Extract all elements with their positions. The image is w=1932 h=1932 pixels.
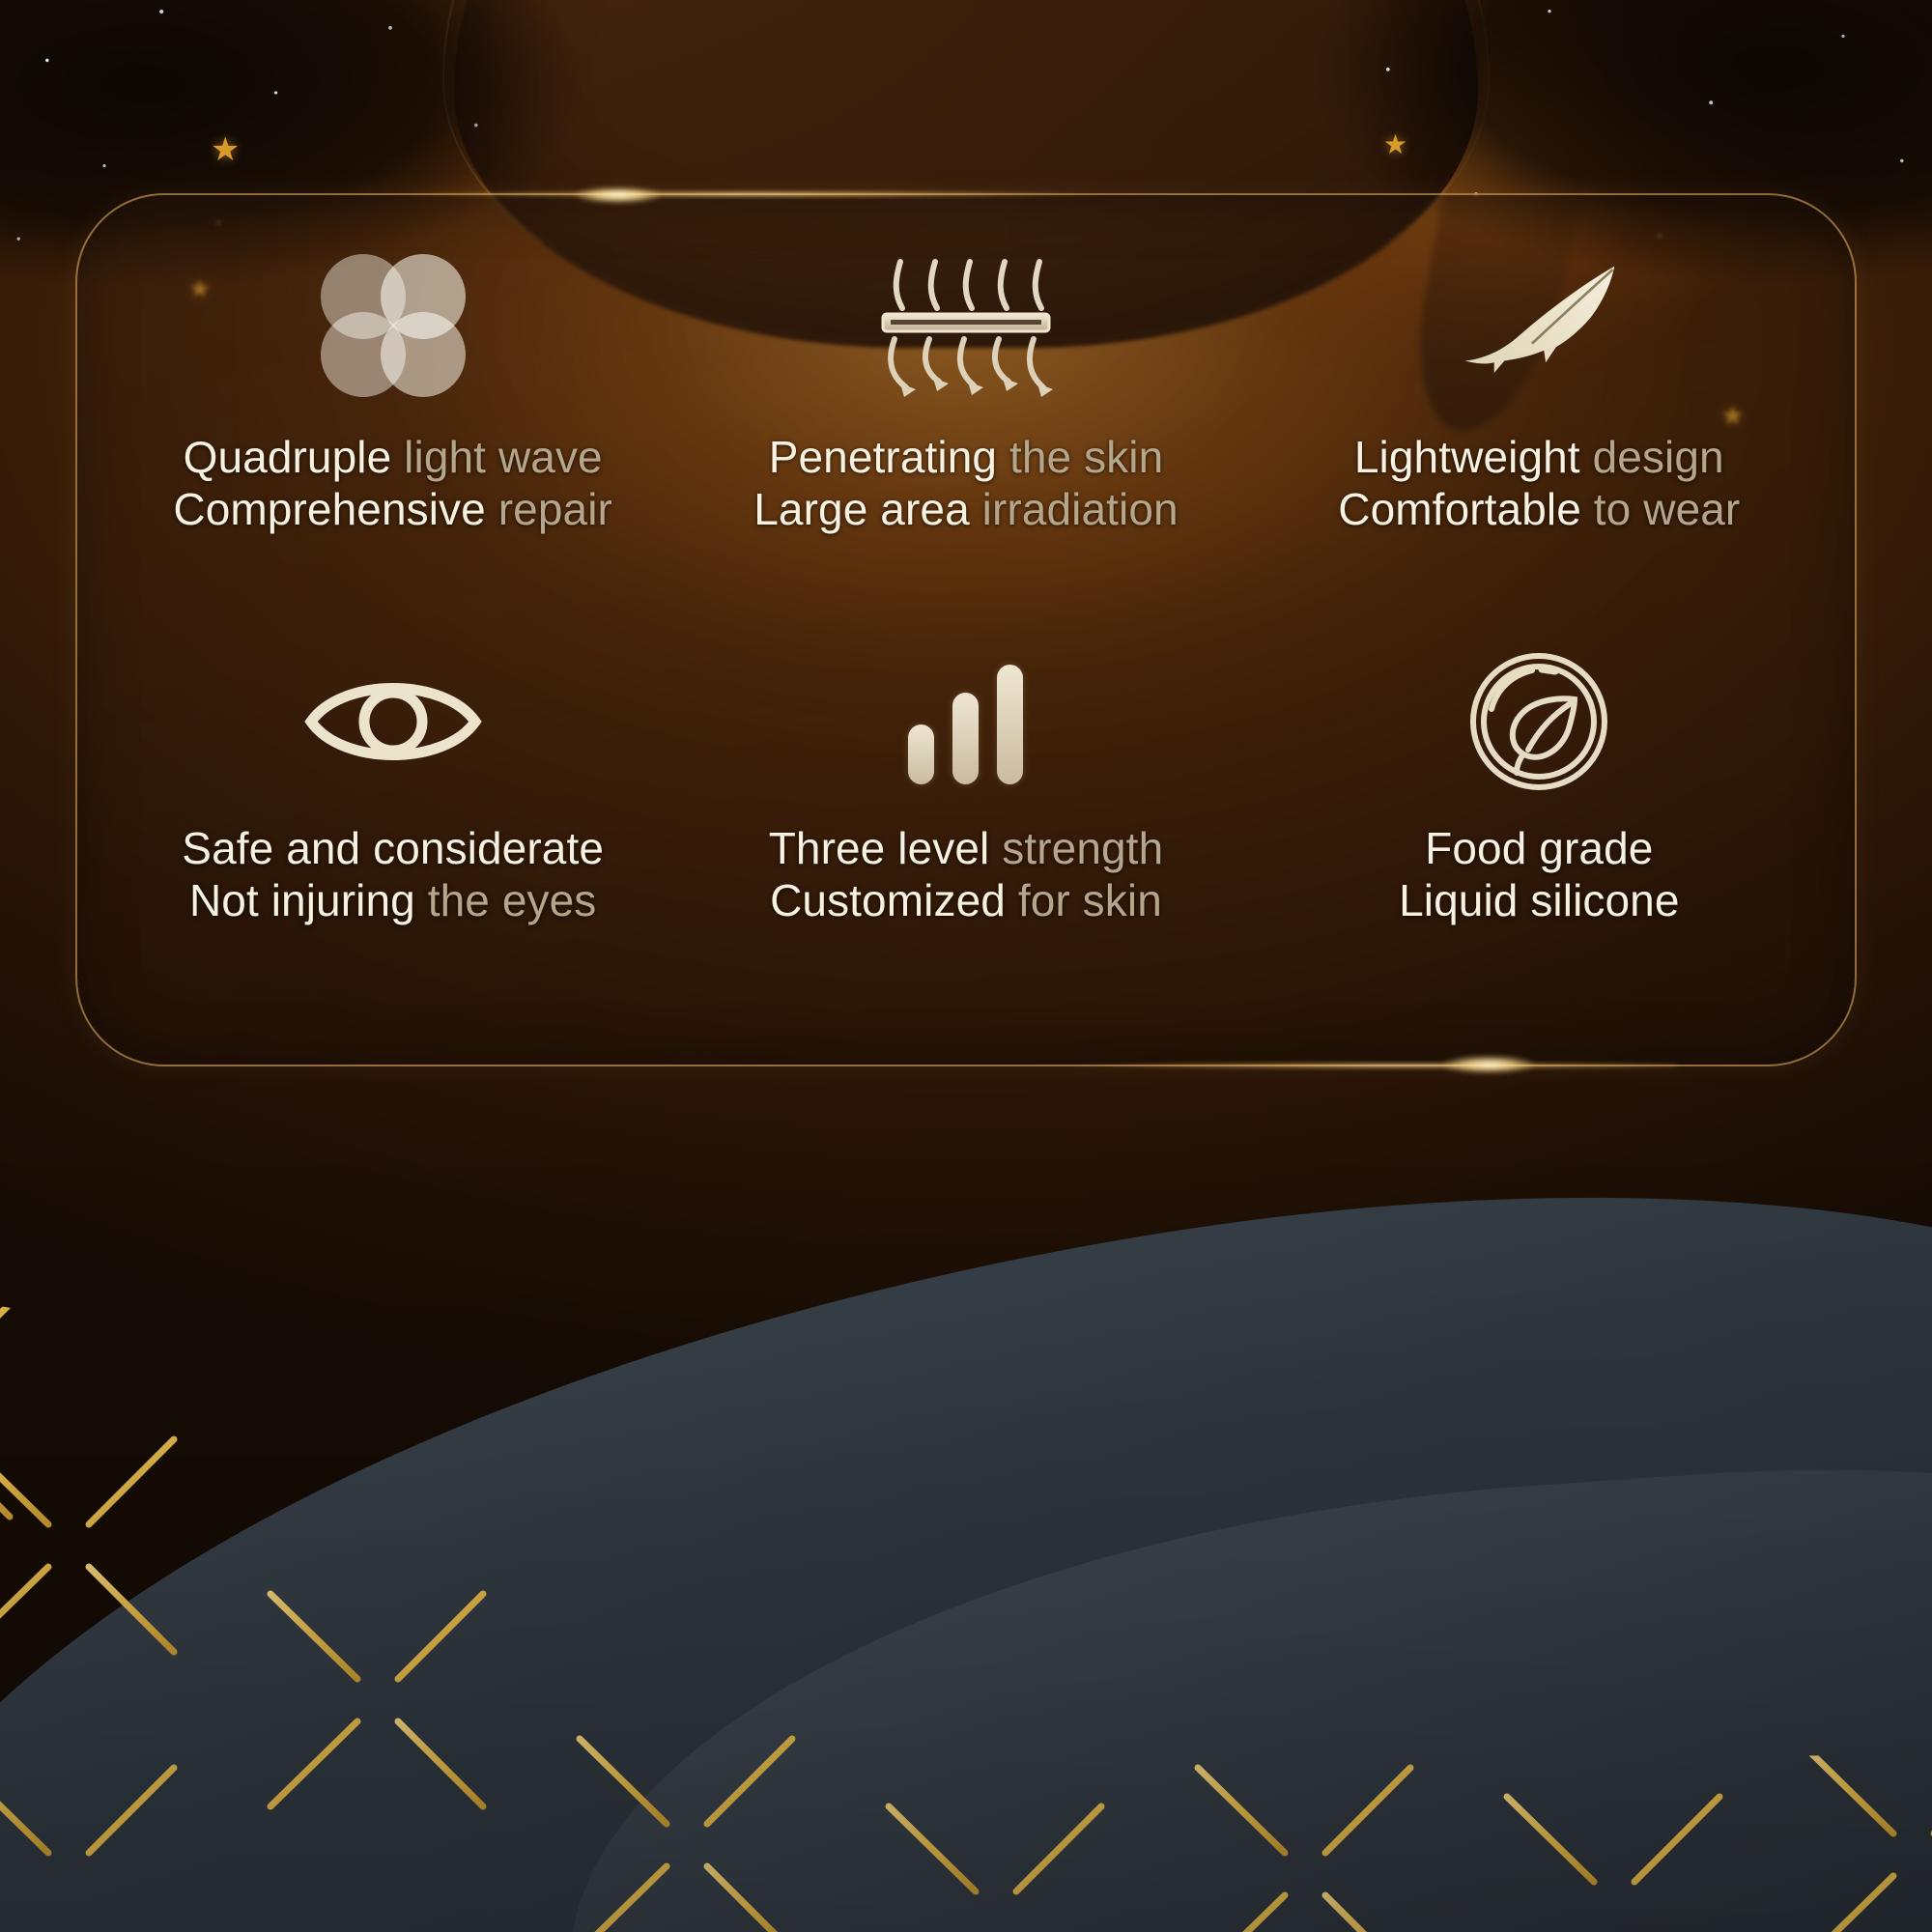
product-feature-slide: ★ ★ ★ ★ Quadruple light wave Comprehensi… <box>0 0 1932 1932</box>
bottom-scrim <box>0 0 1932 1932</box>
